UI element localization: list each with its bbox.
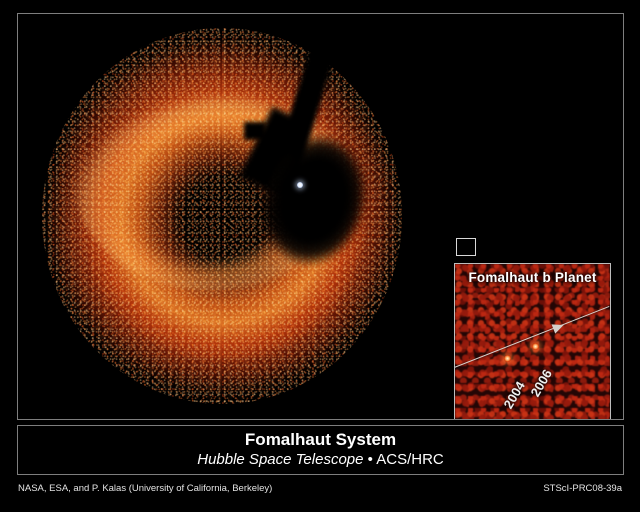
caption-box: Fomalhaut System Hubble Space Telescope … — [17, 425, 624, 475]
caption-subtitle: Hubble Space Telescope • ACS/HRC — [197, 451, 444, 470]
planet-point-2006 — [532, 343, 539, 350]
central-star-marker — [297, 182, 303, 188]
main-image-frame: 2004 2006 Fomalhaut b Planet — [17, 13, 624, 420]
planet-locator-box — [456, 238, 476, 256]
catalog-id: STScI-PRC08-39a — [543, 483, 622, 494]
caption-telescope: Hubble Space Telescope — [197, 451, 363, 468]
planet-point-2004 — [504, 355, 511, 362]
inset-title: Fomalhaut b Planet — [455, 270, 610, 285]
credit-line: NASA, ESA, and P. Kalas (University of C… — [18, 483, 272, 494]
caption-separator: • — [363, 451, 376, 468]
coronagraph-occulter-notch — [244, 122, 266, 140]
caption-title: Fomalhaut System — [245, 430, 396, 450]
caption-instrument: ACS/HRC — [376, 451, 444, 468]
sky-background: 2004 2006 Fomalhaut b Planet — [18, 14, 623, 419]
planet-inset-panel: 2004 2006 Fomalhaut b Planet — [454, 263, 611, 419]
screenshot-root: 2004 2006 Fomalhaut b Planet Fomalhaut S… — [0, 0, 640, 512]
inset-noise-texture — [455, 264, 610, 419]
